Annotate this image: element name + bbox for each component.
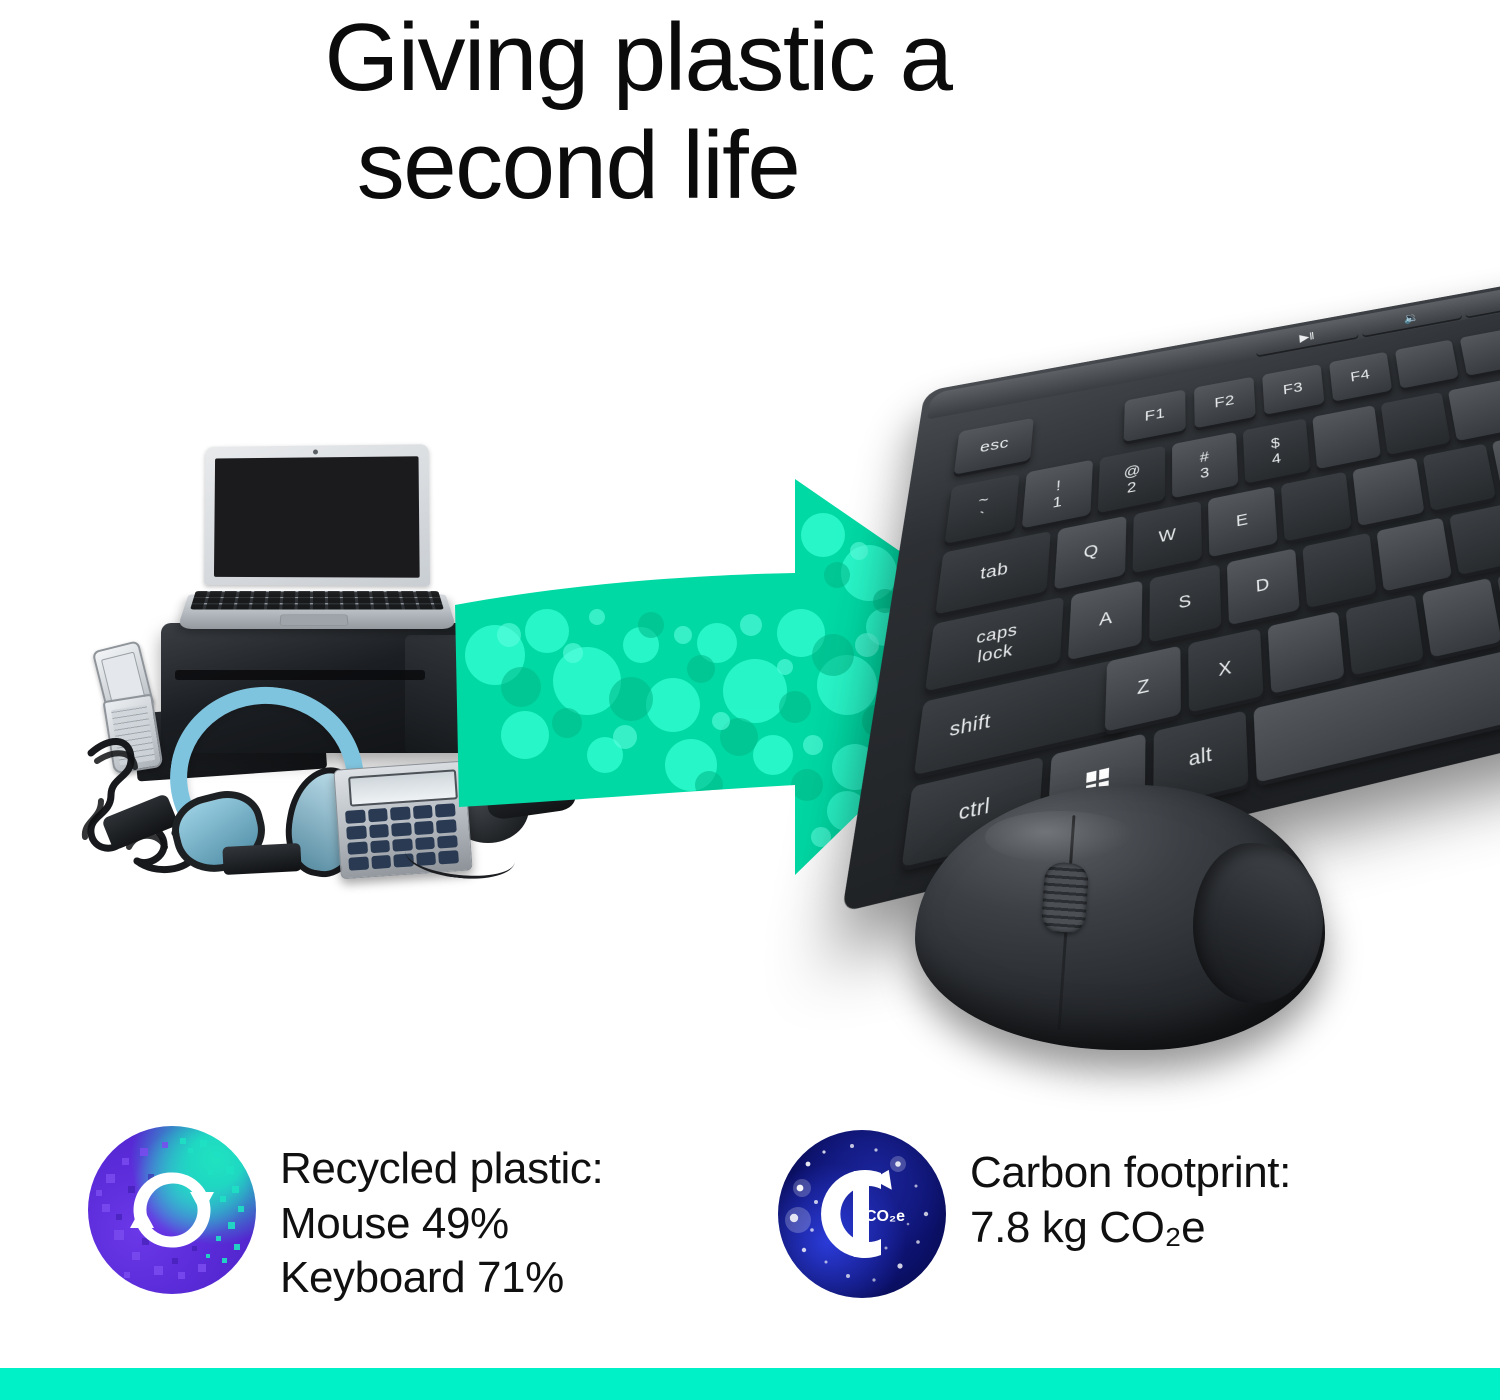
usb-stick-icon — [222, 843, 301, 875]
key-4-bottom: 4 — [1271, 450, 1281, 466]
wireless-keyboard: ▶‖ 🔉 🔊 esc F1 F2 F3 F4 ~ ` ! 1 @ 2 # 3 $ — [788, 272, 1500, 1253]
carbon-footprint-text: Carbon footprint: 7.8 kg CO₂e — [970, 1130, 1291, 1255]
laptop-screen-icon — [204, 444, 430, 586]
recycled-plastic-line-2: Mouse 49% — [280, 1197, 603, 1252]
wireless-mouse — [905, 775, 1335, 1075]
mouse-shell — [915, 785, 1325, 1050]
recycle-arrows-icon — [88, 1126, 256, 1294]
page-title: Giving plastic a second life — [0, 4, 1388, 219]
key-tilde-bottom: ` — [978, 508, 986, 525]
recycled-plastic-text: Recycled plastic: Mouse 49% Keyboard 71% — [280, 1126, 603, 1306]
recycled-plastic-line-3: Keyboard 71% — [280, 1251, 603, 1306]
mouse-right-button[interactable] — [1193, 843, 1323, 1003]
key-7[interactable] — [1448, 379, 1500, 441]
carbon-glyph: CO₂e — [778, 1130, 946, 1298]
key-tilde-top: ~ — [978, 491, 990, 508]
mouse-scroll-wheel[interactable] — [1041, 862, 1090, 935]
key-2-top: @ — [1123, 462, 1141, 480]
carbon-footprint-line-2: 7.8 kg CO₂e — [970, 1201, 1291, 1256]
key-4-top: $ — [1270, 435, 1280, 451]
carbon-c-icon: CO₂e — [778, 1130, 946, 1298]
key-1-bottom: 1 — [1052, 493, 1063, 510]
recycled-plastic-line-1: Recycled plastic: — [280, 1142, 603, 1197]
bottom-accent-bar — [0, 1368, 1500, 1400]
key-1-top: ! — [1056, 477, 1062, 493]
title-line-1: Giving plastic a — [0, 4, 1388, 112]
key-h[interactable] — [1449, 502, 1500, 575]
badge-carbon-footprint: CO₂e Carbon footprint: 7.8 kg CO₂e — [778, 1130, 1291, 1298]
title-line-2: second life — [0, 112, 1388, 220]
key-3-bottom: 3 — [1200, 464, 1210, 481]
recycle-glyph — [88, 1126, 256, 1294]
badge-recycled-plastic: Recycled plastic: Mouse 49% Keyboard 71% — [88, 1126, 603, 1306]
sustainability-badges: Recycled plastic: Mouse 49% Keyboard 71% — [0, 1112, 1500, 1312]
laptop-keyboard-icon — [190, 591, 444, 609]
product-marketing-banner: Giving plastic a second life — [0, 0, 1500, 1400]
carbon-footprint-line-1: Carbon footprint: — [970, 1146, 1291, 1201]
printer-slot-icon — [175, 670, 425, 680]
mouse-highlight — [985, 811, 1135, 863]
carbon-co2e-label: CO₂e — [865, 1208, 905, 1225]
key-3-top: # — [1200, 449, 1210, 465]
key-2-bottom: 2 — [1127, 478, 1137, 495]
laptop-trackpad-icon — [280, 615, 349, 626]
